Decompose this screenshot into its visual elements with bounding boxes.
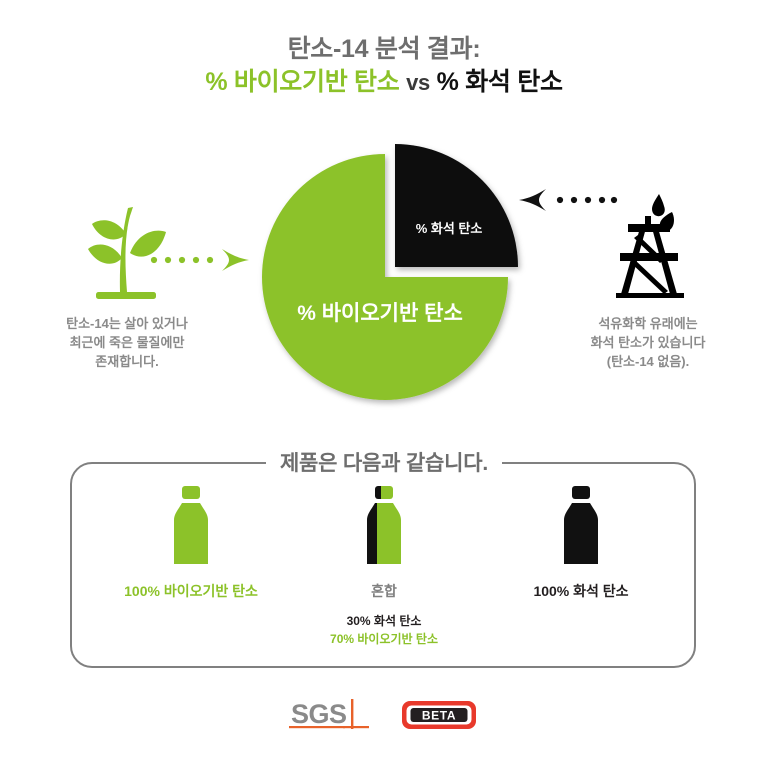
product-caption: 혼합 30% 화석 탄소 70% 바이오기반 탄소 — [294, 582, 474, 649]
caption-left: 탄소-14는 살아 있거나 최근에 죽은 물질에만 존재합니다. — [22, 314, 232, 372]
product-title: 100% 바이오기반 탄소 — [96, 582, 286, 602]
sgs-logo: SGS — [289, 698, 375, 737]
product-title: 100% 화석 탄소 — [486, 582, 676, 602]
product-sub-fossil: 30% 화석 탄소 — [294, 612, 474, 631]
product-sub-biobased: 70% 바이오기반 탄소 — [294, 630, 474, 649]
product-subtitle: 30% 화석 탄소 70% 바이오기반 탄소 — [294, 612, 474, 649]
product-title: 혼합 — [294, 582, 474, 602]
caption-right: 석유화학 유래에는 화석 탄소가 있습니다 (탄소-14 없음). — [548, 314, 748, 372]
pie-label-fossil: % 화석 탄소 — [416, 221, 483, 236]
pie-label-biobased: % 바이오기반 탄소 — [297, 302, 463, 325]
title-fossil-carbon: % 화석 탄소 — [437, 68, 563, 96]
logo-row: SGS BETA — [0, 698, 768, 737]
title-line-1: 탄소-14 분석 결과: — [0, 34, 768, 65]
beta-logo-text: BETA — [422, 708, 456, 722]
product-item-fossil: 100% 화석 탄소 — [486, 486, 676, 602]
title-line-2: % 바이오기반 탄소 vs % 화석 탄소 — [0, 67, 768, 98]
page-title: 탄소-14 분석 결과: % 바이오기반 탄소 vs % 화석 탄소 — [0, 34, 768, 98]
oil-derrick-icon — [612, 190, 688, 300]
infographic-canvas: 탄소-14 분석 결과: % 바이오기반 탄소 vs % 화석 탄소 % 바이오… — [0, 0, 768, 768]
bottle-black-icon — [486, 486, 676, 564]
dotted-arrow-left-icon — [508, 188, 618, 212]
title-biobased-carbon: % 바이오기반 탄소 — [205, 68, 399, 96]
pie-chart: % 바이오기반 탄소 % 화석 탄소 — [243, 140, 533, 420]
product-item-biobased: 100% 바이오기반 탄소 — [96, 486, 286, 602]
pie-slice-fossil — [395, 144, 518, 267]
bottle-green-icon — [96, 486, 286, 564]
product-caption: 100% 바이오기반 탄소 — [96, 582, 286, 602]
dotted-arrow-right-icon — [150, 248, 255, 272]
product-caption: 100% 화석 탄소 — [486, 582, 676, 602]
title-vs: vs — [406, 70, 430, 95]
sgs-logo-text: SGS — [291, 699, 347, 729]
panel-heading: 제품은 다음과 같습니다. — [0, 447, 768, 477]
bottle-mixed-icon — [294, 486, 474, 564]
product-item-mixed: 혼합 30% 화석 탄소 70% 바이오기반 탄소 — [294, 486, 474, 649]
beta-logo: BETA — [401, 698, 479, 737]
panel-heading-text: 제품은 다음과 같습니다. — [266, 447, 502, 477]
